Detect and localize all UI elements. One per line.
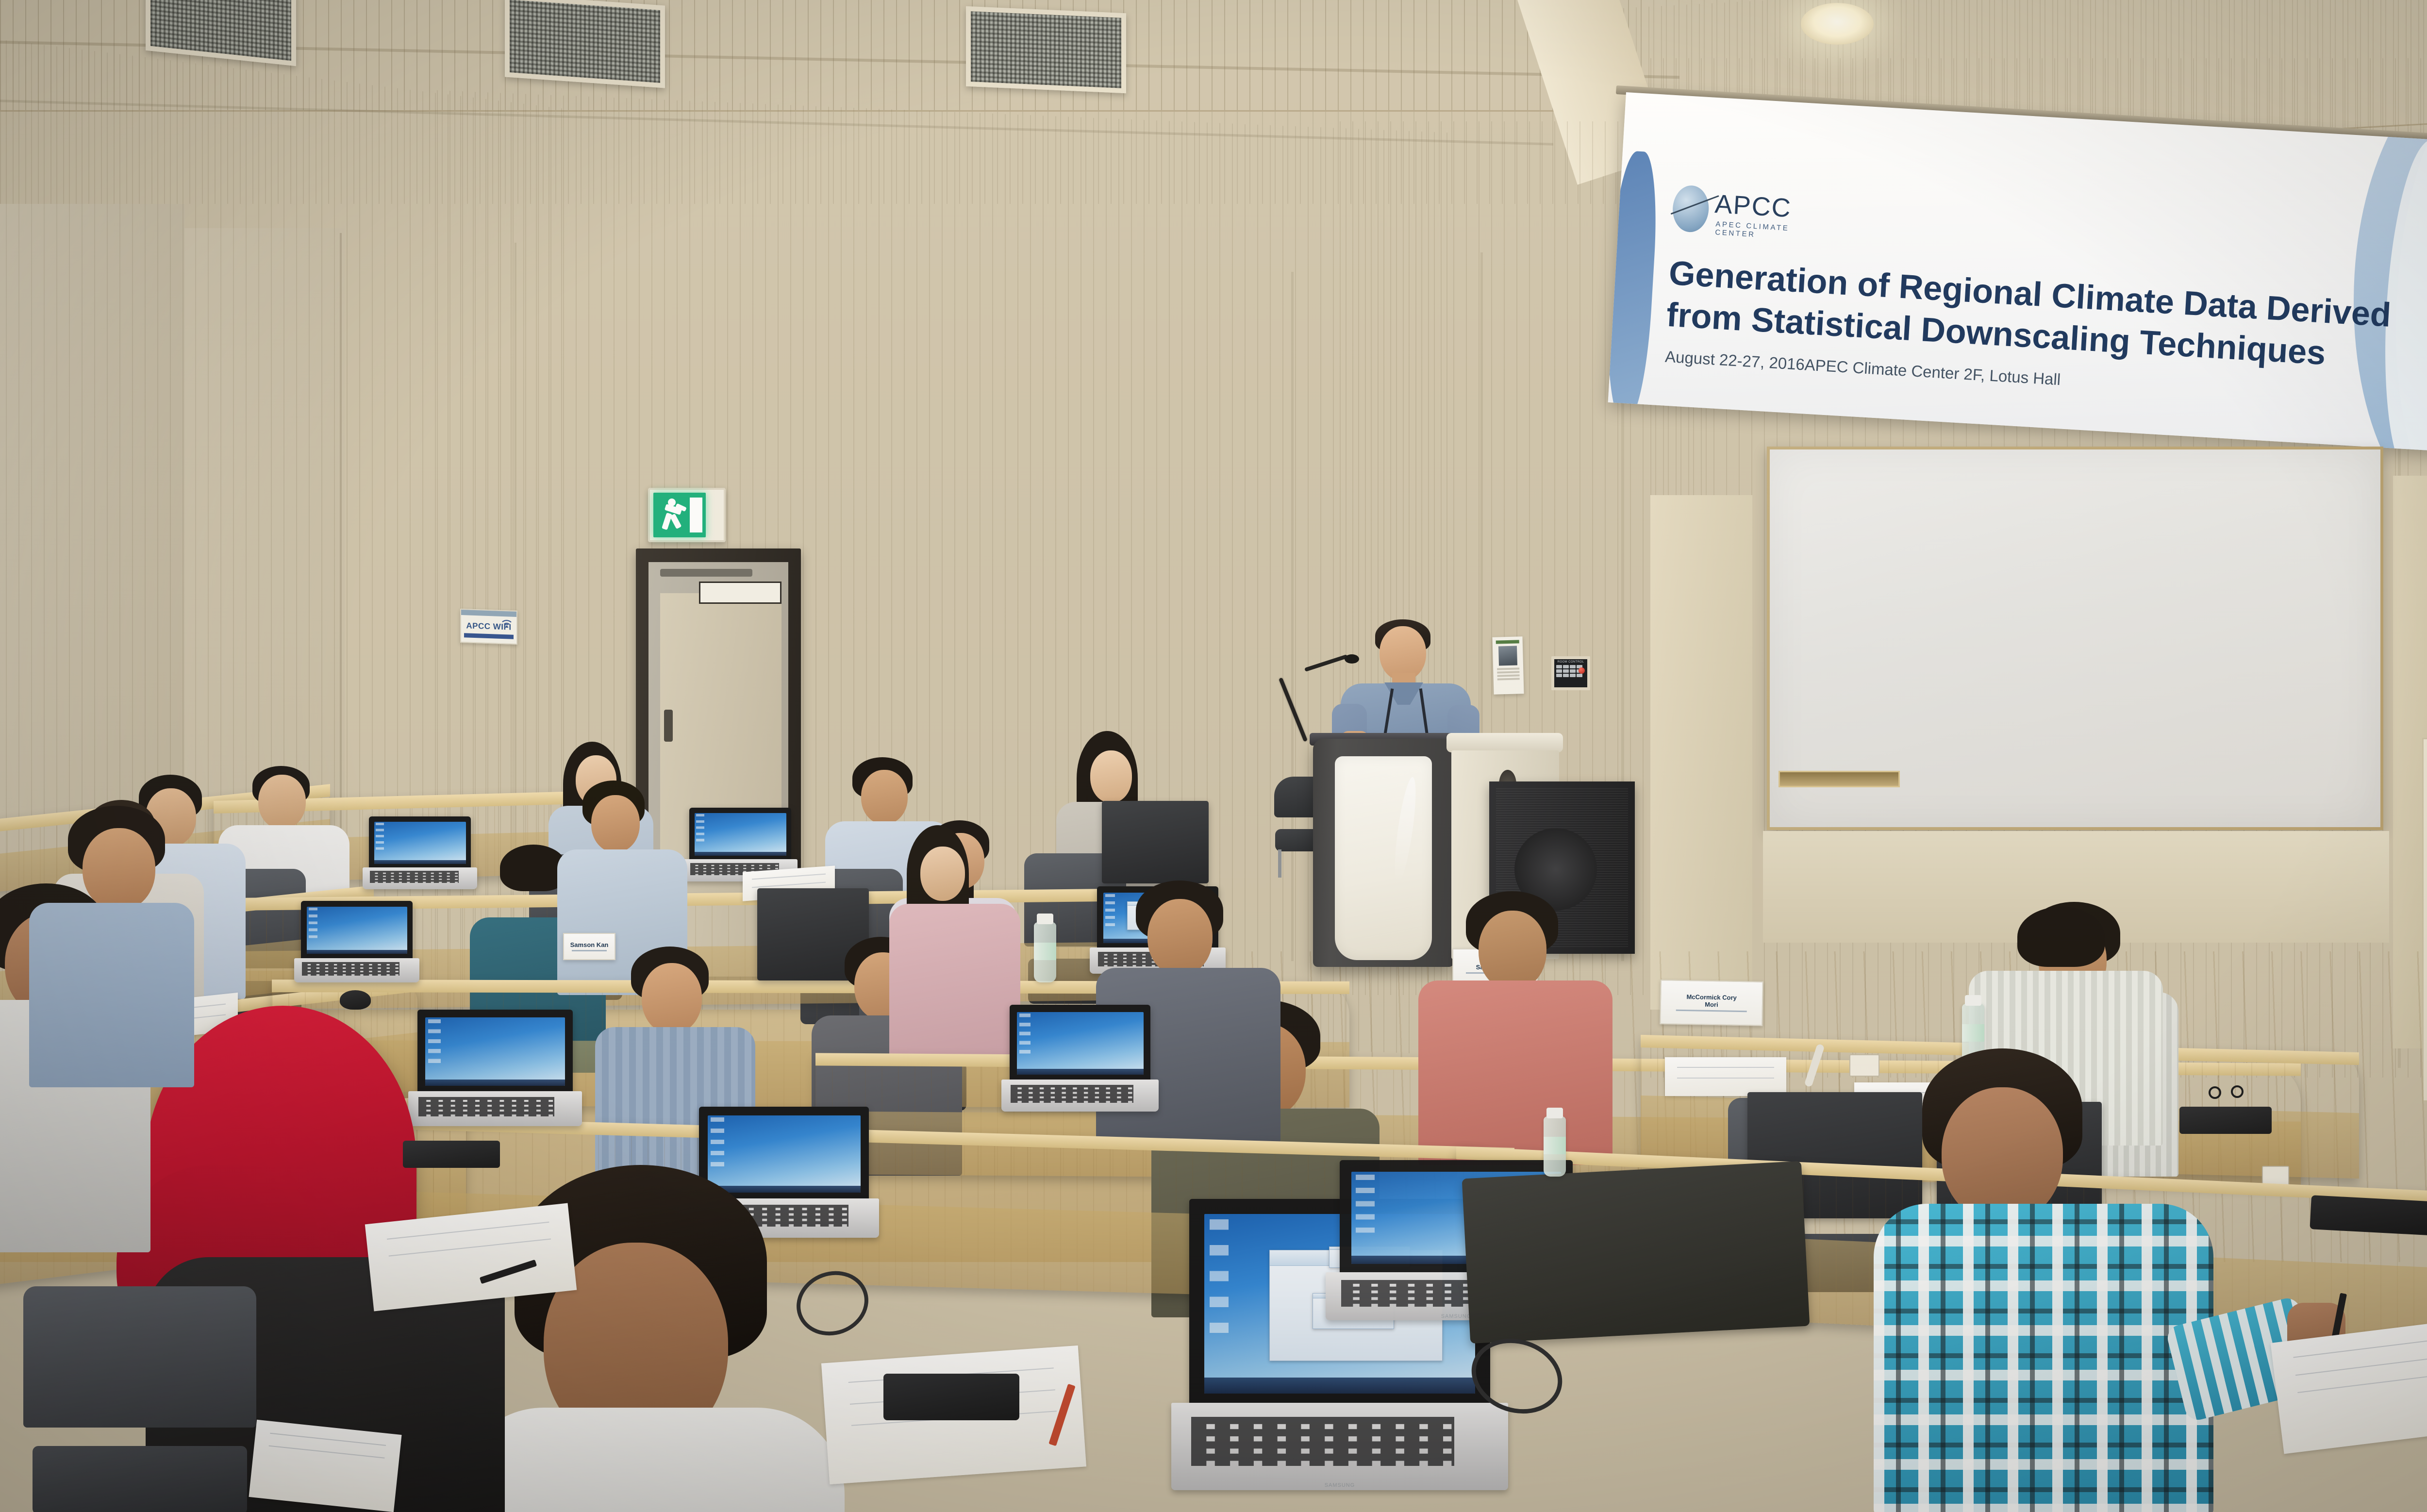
- sunglasses-icon: [2231, 1085, 2244, 1098]
- room-control-panel[interactable]: ROOM CONTROL: [1551, 656, 1590, 690]
- laptop-lid-back: [2179, 1107, 2272, 1134]
- placard-name: Samson Kan: [570, 942, 609, 949]
- laptop[interactable]: [1010, 1005, 1150, 1112]
- name-placard: McCormick Cory Mori: [1660, 980, 1763, 1026]
- emergency-exit-sign: [648, 488, 726, 542]
- name-placard: Samson Kan: [563, 933, 615, 960]
- laptop-base[interactable]: [363, 867, 477, 889]
- laptop[interactable]: [369, 816, 471, 889]
- laptop-base[interactable]: [1001, 1080, 1159, 1112]
- laptop-screen: [695, 813, 786, 856]
- laptop-screen: [374, 822, 466, 864]
- exit-running-man-icon: [653, 493, 706, 537]
- laptop-base[interactable]: SAMSUNG: [1171, 1403, 1508, 1490]
- laptop-lid: [689, 808, 791, 861]
- logo-wordmark: APCC: [1714, 189, 1792, 223]
- laptop-brand-label: SAMSUNG: [1325, 1482, 1355, 1488]
- wifi-sign: APCC WIFI: [460, 609, 517, 645]
- banner-location: APEC Climate Center 2F, Lotus Hall: [1804, 355, 2061, 389]
- apcc-logo: APCC APEC CLIMATE CENTER: [1671, 182, 1815, 247]
- laptop[interactable]: [301, 901, 413, 982]
- laptop[interactable]: [417, 1010, 573, 1126]
- door-sign-plate: [699, 582, 781, 604]
- air-vent-icon: [505, 0, 665, 88]
- laptop-lid: [369, 816, 471, 869]
- laptop-screen: [307, 907, 407, 954]
- laptop-base[interactable]: [294, 958, 419, 982]
- sunglasses-icon: [2209, 1086, 2221, 1099]
- laptop-lid: [699, 1107, 869, 1201]
- emergency-stop-button[interactable]: [1579, 667, 1585, 674]
- wall-seam: [340, 233, 342, 888]
- logo-subtitle: APEC CLIMATE CENTER: [1715, 220, 1813, 242]
- laptop-bag[interactable]: [1462, 1161, 1810, 1344]
- usb-hub[interactable]: [883, 1374, 1019, 1420]
- laptop-lid: [1010, 1005, 1150, 1081]
- podium-front-panel: [1335, 756, 1432, 960]
- door-handle[interactable]: [664, 710, 673, 742]
- water-bottle[interactable]: [1034, 922, 1056, 982]
- laptop-base[interactable]: [408, 1091, 582, 1126]
- power-outlet[interactable]: [1849, 1054, 1879, 1077]
- water-bottle[interactable]: [1544, 1116, 1566, 1177]
- placard-name-2: Mori: [1705, 1001, 1718, 1009]
- notepad: [1665, 1057, 1786, 1096]
- side-table-top: [1446, 733, 1563, 752]
- door-closer: [660, 569, 752, 577]
- air-vent-icon: [966, 6, 1126, 93]
- document: [249, 1420, 401, 1512]
- wall-poster: [1492, 636, 1524, 695]
- wall-seam: [515, 243, 516, 883]
- laptop-lid: [301, 901, 413, 960]
- room-control-title: ROOM CONTROL: [1554, 661, 1587, 664]
- globe-icon: [1671, 184, 1710, 233]
- laptop-screen: [425, 1017, 565, 1086]
- laptop-lid: [417, 1010, 573, 1094]
- banner-artwork: [2233, 92, 2427, 463]
- taskbar[interactable]: [1204, 1378, 1475, 1394]
- laptop-screen: [1017, 1012, 1144, 1075]
- screen-slot: [1779, 771, 1900, 787]
- computer-mouse[interactable]: [340, 990, 371, 1010]
- laptop-brand-label: SAMSUNG: [1441, 1313, 1472, 1319]
- laptop-screen: [708, 1115, 861, 1193]
- wifi-sign-credentials: [464, 633, 514, 639]
- lecture-hall-photo: APCC WIFI APCC APEC CLIMATE CENTER Gener…: [0, 0, 2427, 1512]
- microphone-icon: [1345, 654, 1359, 664]
- laptop-lid-back: [1102, 801, 1209, 883]
- banner-date: August 22-27, 2016: [1664, 348, 1805, 374]
- wall-column-left-of-screen: [1650, 495, 1752, 1010]
- ceiling-downlight-icon: [1801, 3, 1874, 45]
- wifi-icon: [501, 619, 512, 628]
- external-drive[interactable]: [403, 1141, 500, 1168]
- event-banner: APCC APEC CLIMATE CENTER Generation of R…: [1608, 92, 2427, 463]
- chair[interactable]: [23, 1286, 256, 1512]
